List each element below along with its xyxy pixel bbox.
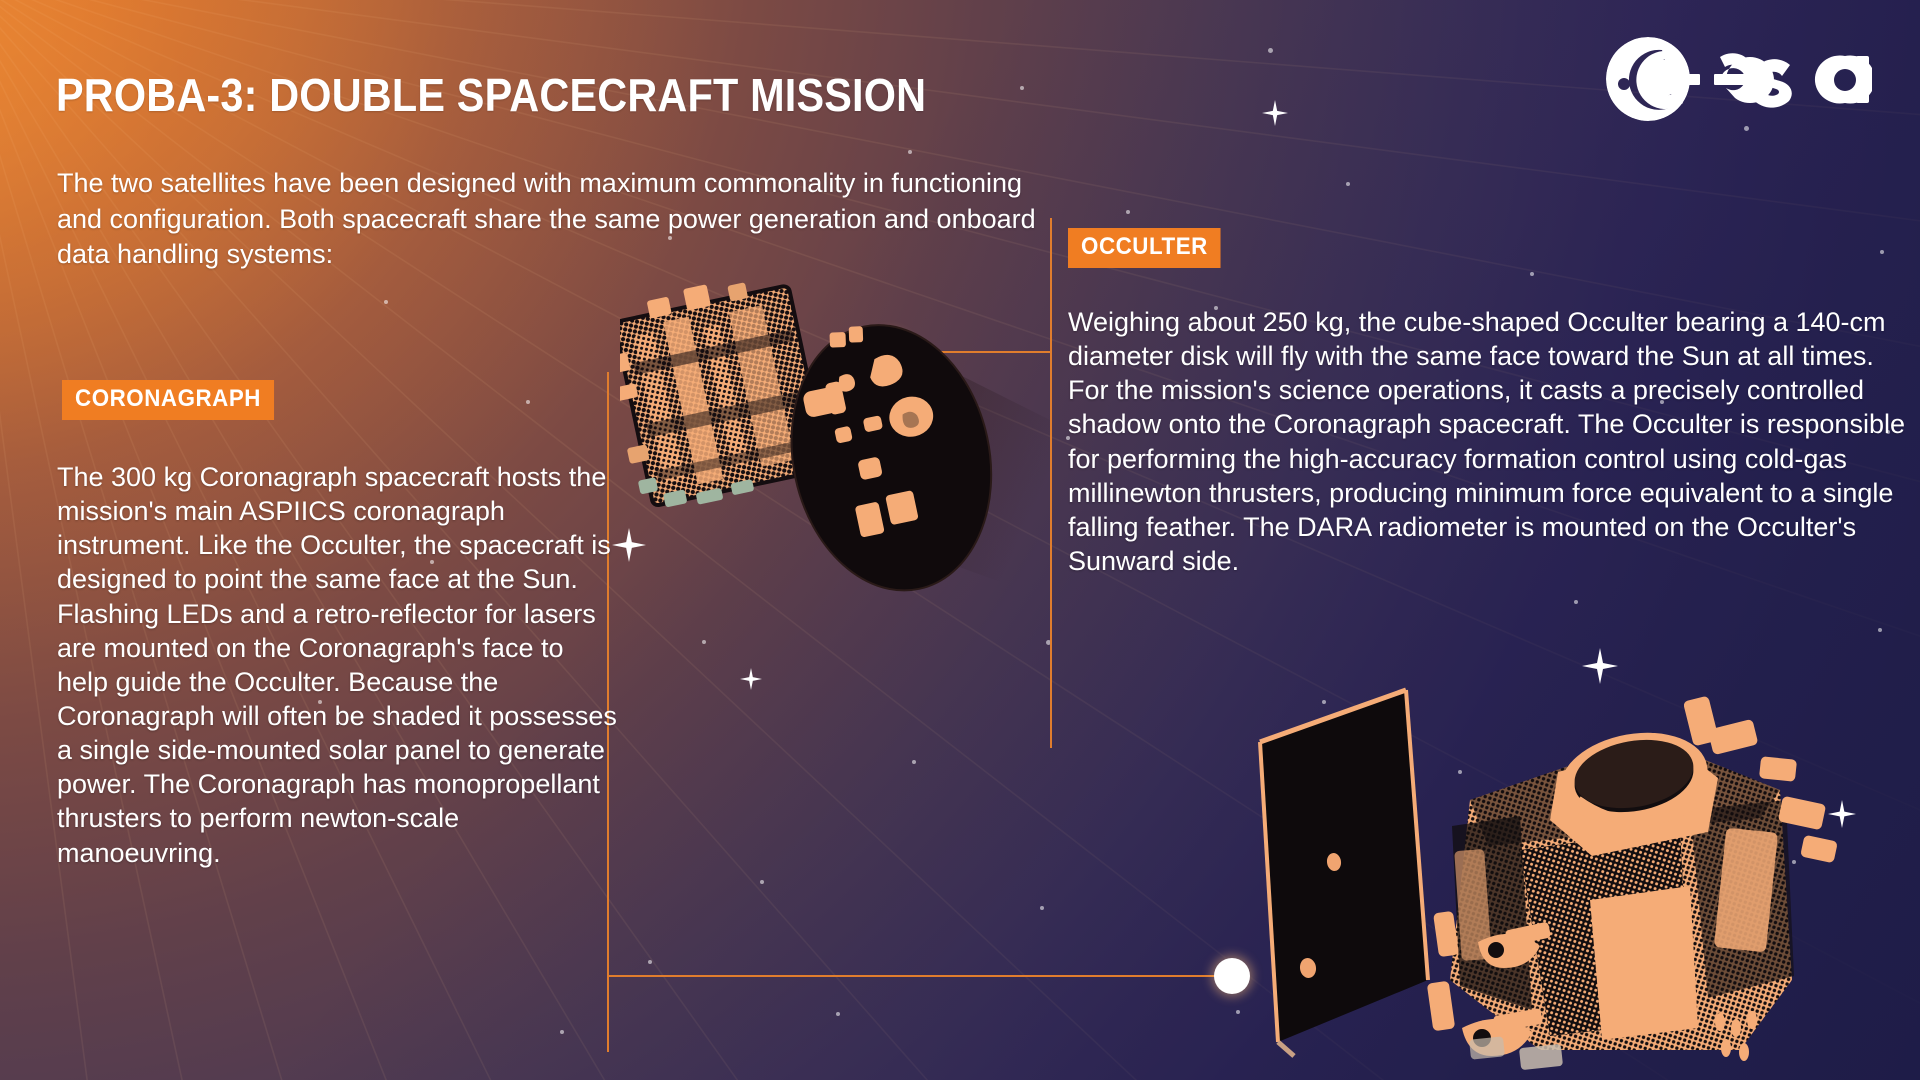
intro-paragraph: The two satellites have been designed wi… — [57, 166, 1042, 273]
occulter-connector-line-vertical — [1050, 218, 1052, 748]
coronagraph-body-text: The 300 kg Coronagraph spacecraft hosts … — [57, 460, 617, 870]
coronagraph-connector-line-horizontal — [607, 975, 1225, 977]
coronagraph-spacecraft-illustration — [1220, 650, 1920, 1080]
esa-logo — [1604, 36, 1872, 122]
infographic-canvas: PROBA-3: DOUBLE SPACECRAFT MISSION The t… — [0, 0, 1920, 1080]
occulter-body-text: Weighing about 250 kg, the cube-shaped O… — [1068, 305, 1913, 578]
sparkle-star — [740, 668, 762, 690]
badge-coronagraph: CORONAGRAPH — [62, 380, 274, 420]
occulter-spacecraft-illustration — [620, 270, 1050, 630]
badge-occulter: OCCULTER — [1068, 228, 1221, 268]
page-title: PROBA-3: DOUBLE SPACECRAFT MISSION — [56, 68, 926, 122]
sparkle-star — [1262, 100, 1288, 126]
